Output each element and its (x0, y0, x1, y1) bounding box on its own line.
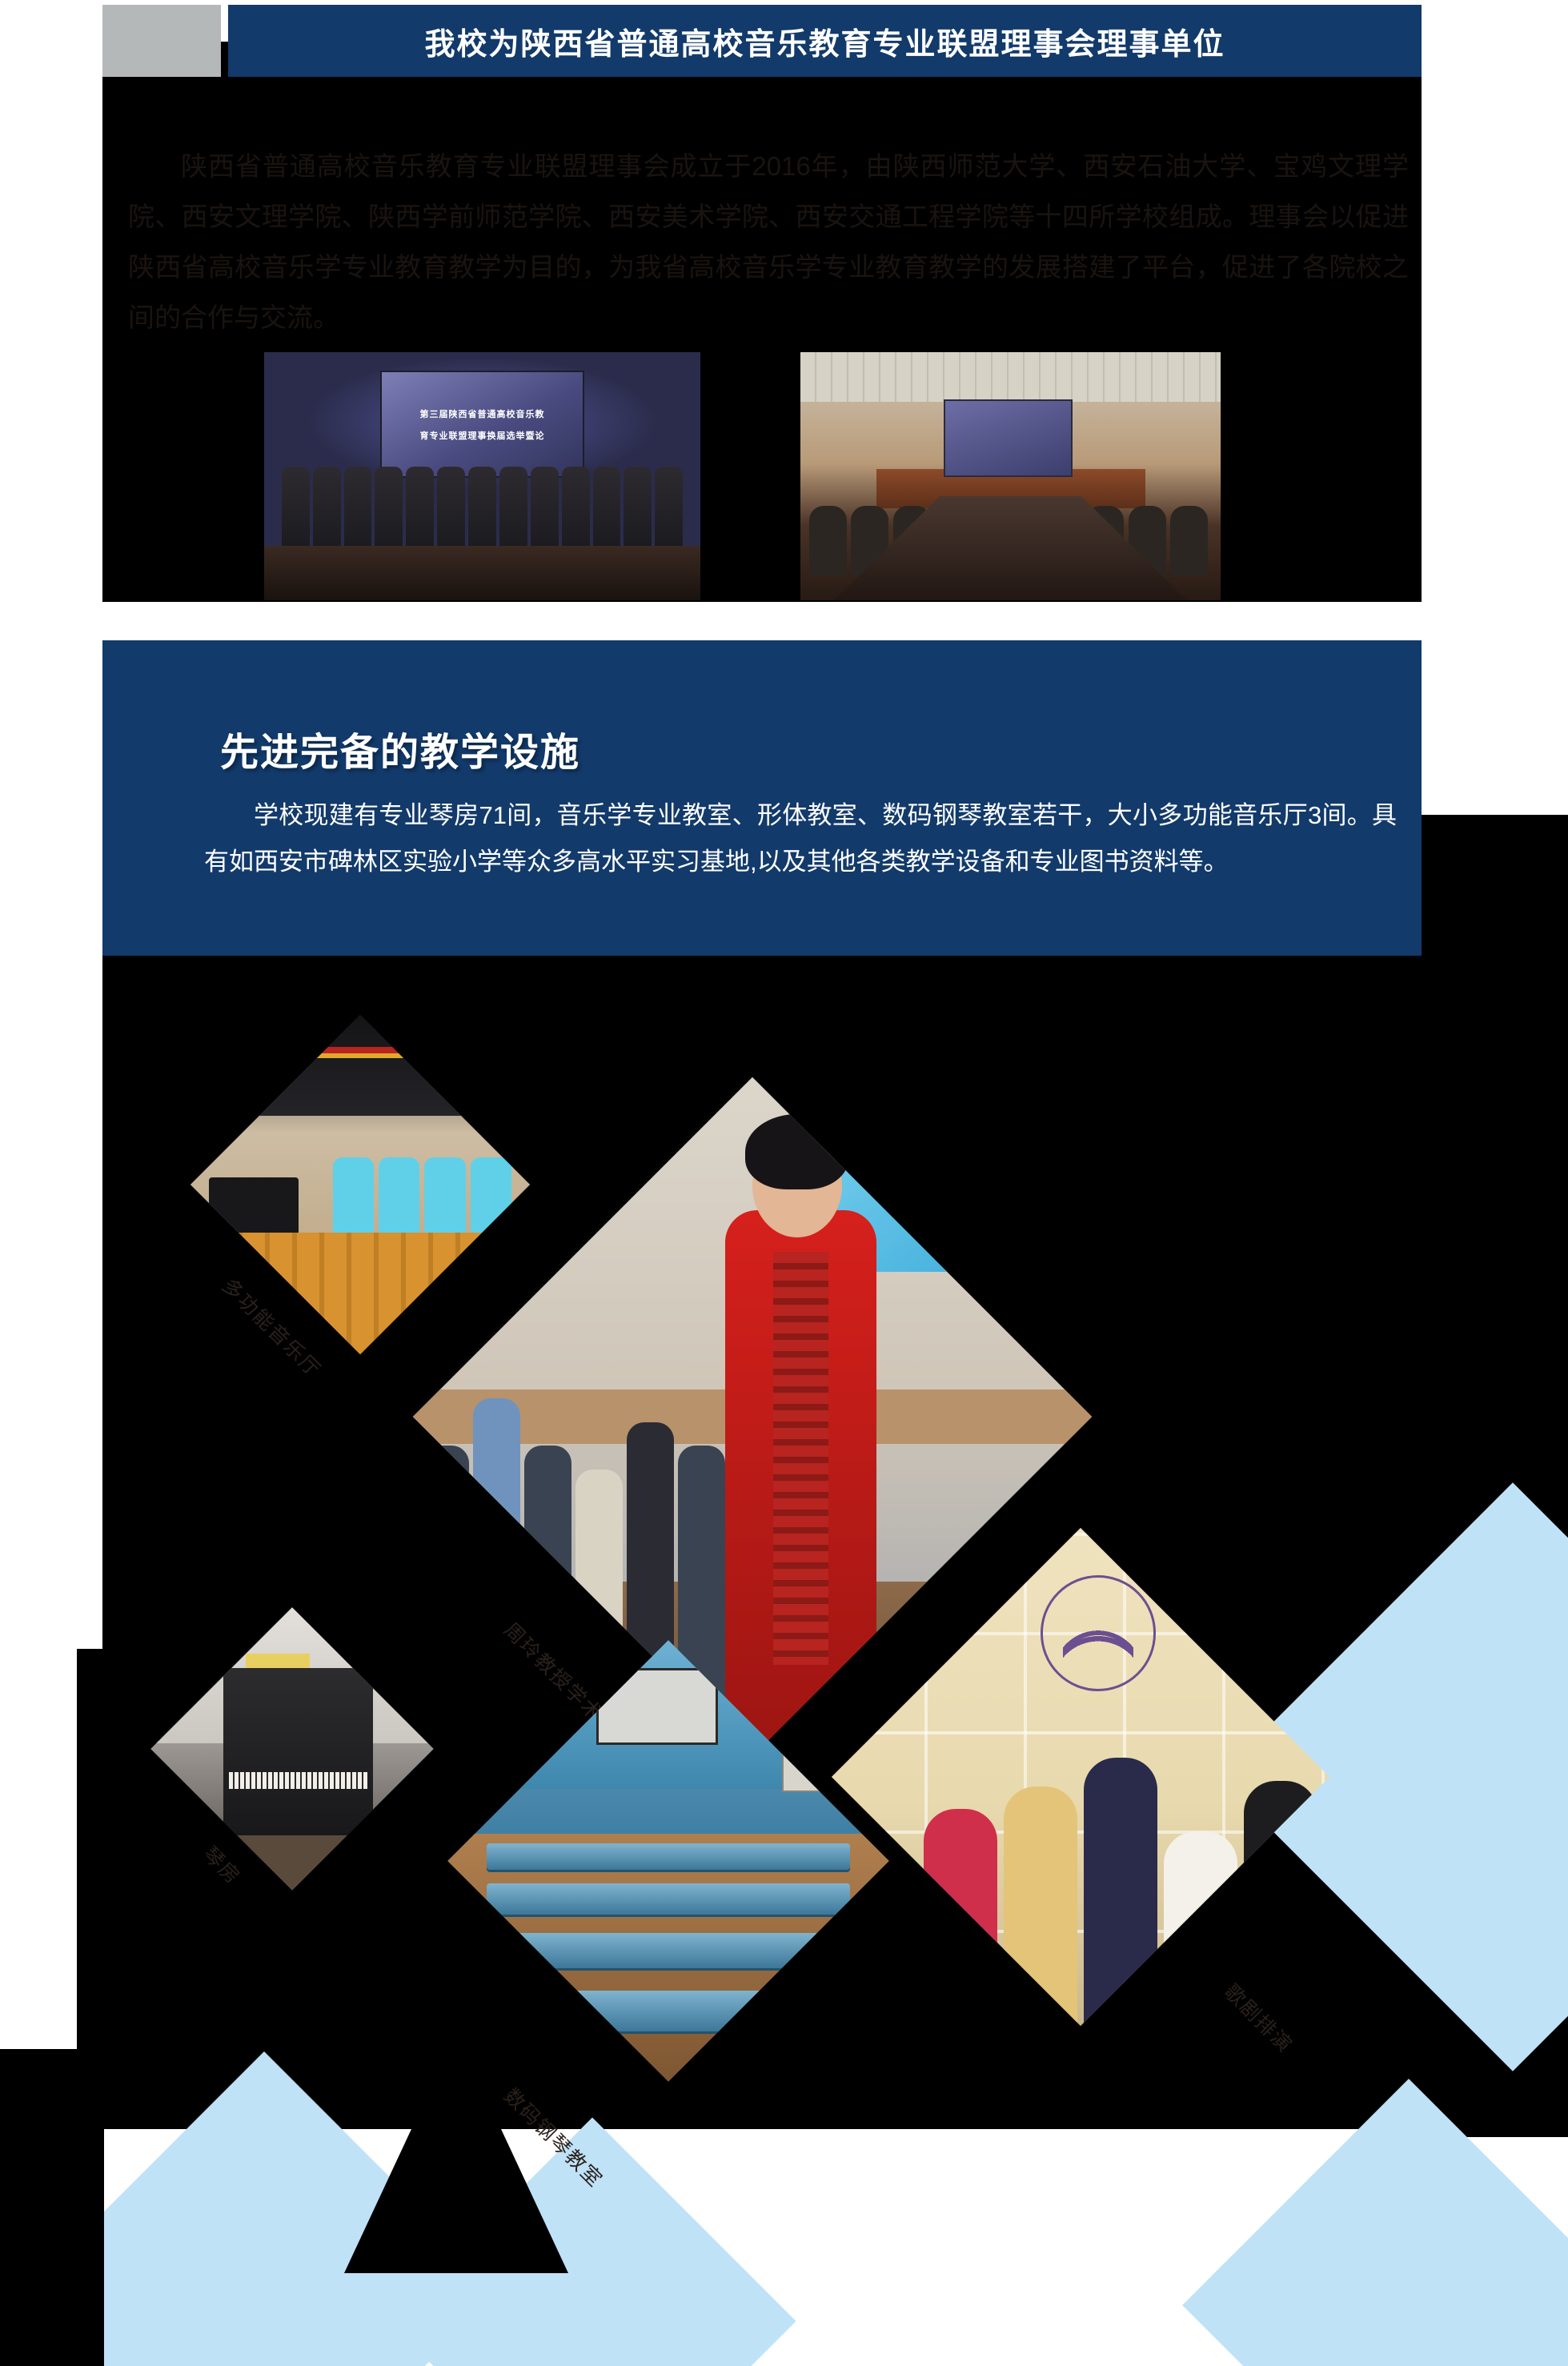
people-row (282, 467, 683, 556)
piano-keys (229, 1772, 367, 1790)
screen-caption-line2: 育专业联盟理事换届选举暨论 (394, 429, 571, 442)
photo-conference-room (800, 352, 1221, 600)
conference-table (264, 546, 700, 600)
section2-body-text: 学校现建有专业琴房71间，音乐学专业教室、形体教室、数码钢琴教室若干，大小多功能… (204, 792, 1397, 885)
sheet-music (246, 1654, 309, 1668)
ceiling (800, 352, 1221, 402)
black-wedge-bottom-left (0, 2049, 104, 2366)
section1-title: 我校为陕西省普通高校音乐教育专业联盟理事会理事单位 (228, 5, 1422, 77)
lecturer-scarf (773, 1252, 828, 1665)
projector-screen: 第三届陕西省普通高校音乐教 育专业联盟理事换届选举暨论 (382, 372, 583, 476)
section2-heading: 先进完备的教学设施 (220, 720, 580, 776)
header-gray-block (102, 5, 221, 77)
section1-body-text: 陕西省普通高校音乐教育专业联盟理事会成立于2016年，由陕西师范大学、西安石油大… (128, 141, 1409, 325)
poster-page: 我校为陕西省普通高校音乐教育专业联盟理事会理事单位 陕西省普通高校音乐教育专业联… (0, 0, 1568, 2366)
logo-arcs (1063, 1606, 1134, 1664)
projector-screen (944, 399, 1073, 477)
screen-caption-line1: 第三届陕西省普通高校音乐教 (394, 407, 571, 420)
photo-group-meeting: 第三届陕西省普通高校音乐教 育专业联盟理事换届选举暨论 (264, 352, 700, 600)
conference-room-scene (800, 352, 1221, 600)
upright-piano (223, 1668, 373, 1847)
institute-logo (1041, 1575, 1157, 1691)
group-photo-scene: 第三届陕西省普通高校音乐教 育专业联盟理事换届选举暨论 (264, 352, 700, 600)
